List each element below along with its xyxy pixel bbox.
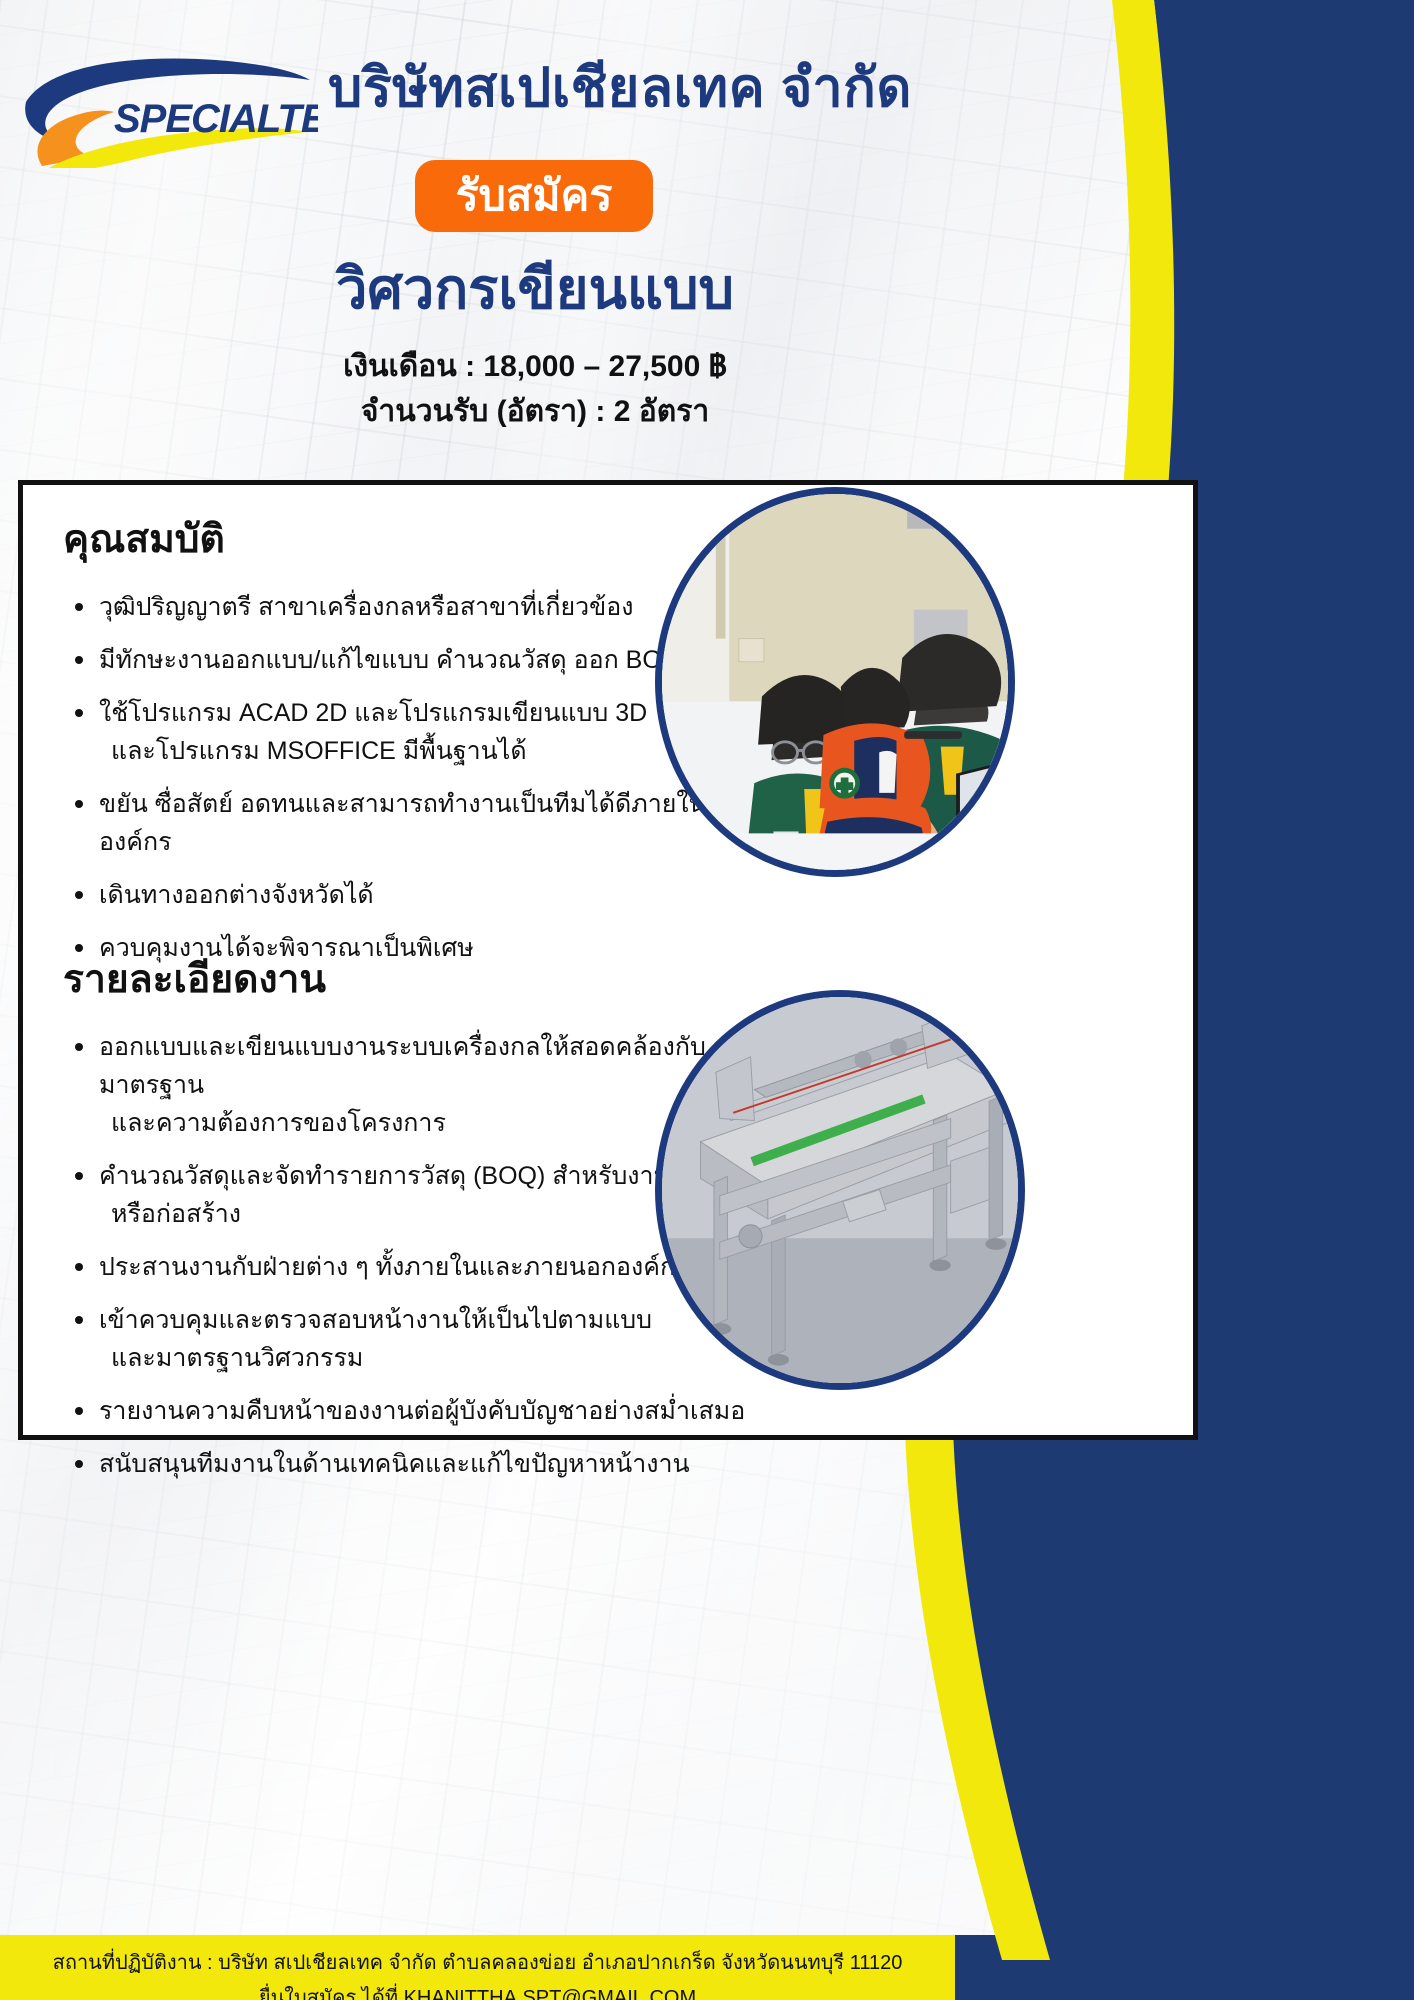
- list-item-text: ใช้โปรแกรม ACAD 2D และโปรแกรมเขียนแบบ 3D: [99, 699, 647, 727]
- list-item-text: สนับสนุนทีมงานในด้านเทคนิคและแก้ไขปัญหาห…: [99, 1450, 690, 1478]
- list-item-text: มีทักษะงานออกแบบ/แก้ไขแบบ คำนวณวัสดุ ออก…: [99, 646, 717, 674]
- company-name: บริษัทสเปเชียลเทค จำกัด: [300, 60, 940, 117]
- team-meeting-photo: [655, 487, 1015, 877]
- list-item-text: วุฒิปริญญาตรี สาขาเครื่องกลหรือสาขาที่เก…: [99, 593, 633, 621]
- footer-text: สถานที่ปฏิบัติงาน : บริษัท สเปเชียลเทค จ…: [0, 1946, 955, 2000]
- list-item-text: คำนวณวัสดุและจัดทำรายการวัสดุ (BOQ) สำหร…: [99, 1162, 732, 1190]
- list-item-text: รายงานความคืบหน้าของงานต่อผู้บังคับบัญชา…: [99, 1397, 745, 1425]
- list-item-text: เดินทางออกต่างจังหวัดได้: [99, 881, 374, 909]
- list-item-text: ขยัน ซื่อสัตย์ อดทนและสามารถทำงานเป็นทีม…: [99, 790, 706, 856]
- salary-line: เงินเดือน : 18,000 – 27,500 ฿: [130, 344, 940, 389]
- job-poster: SPECIALTECH บริษัทสเปเชียลเทค จำกัด รับส…: [0, 0, 1414, 2000]
- logo-wordmark: SPECIALTECH: [114, 97, 318, 141]
- specialtech-logo: SPECIALTECH: [18, 48, 318, 168]
- footer-apply: ยื่นใบสมัคร ได้ที่ KHANITTHA.SPT@GMAIL.C…: [0, 1981, 955, 2000]
- poster-header: SPECIALTECH บริษัทสเปเชียลเทค จำกัด: [0, 0, 1414, 175]
- content-card: คุณสมบัติ วุฒิปริญญาตรี สาขาเครื่องกลหรื…: [18, 480, 1198, 1440]
- footer-location: สถานที่ปฏิบัติงาน : บริษัท สเปเชียลเทค จ…: [53, 1952, 903, 1974]
- headcount-line: จำนวนรับ (อัตรา) : 2 อัตรา: [130, 389, 940, 434]
- list-item: เดินทางออกต่างจังหวัดได้: [63, 876, 763, 914]
- job-meta: เงินเดือน : 18,000 – 27,500 ฿ จำนวนรับ (…: [130, 344, 940, 434]
- carton-sealing-machine-render: [655, 990, 1025, 1390]
- list-item-text: ออกแบบและเขียนแบบงานระบบเครื่องกลให้สอดค…: [99, 1033, 706, 1099]
- job-title: วิศวกรเขียนแบบ: [140, 258, 930, 320]
- list-item: วุฒิปริญญาตรี สาขาเครื่องกลหรือสาขาที่เก…: [63, 588, 763, 626]
- list-item: ขยัน ซื่อสัตย์ อดทนและสามารถทำงานเป็นทีม…: [63, 785, 763, 861]
- hiring-badge: รับสมัคร: [415, 160, 653, 232]
- list-item: สนับสนุนทีมงานในด้านเทคนิคและแก้ไขปัญหาห…: [63, 1445, 803, 1483]
- list-item-text: เข้าควบคุมและตรวจสอบหน้างานให้เป็นไปตามแ…: [99, 1306, 652, 1334]
- list-item: รายงานความคืบหน้าของงานต่อผู้บังคับบัญชา…: [63, 1392, 803, 1430]
- list-item-text: ประสานงานกับฝ่ายต่าง ๆ ทั้งภายในและภายนอ…: [99, 1253, 689, 1281]
- job-details-title: รายละเอียดงาน: [63, 959, 863, 1002]
